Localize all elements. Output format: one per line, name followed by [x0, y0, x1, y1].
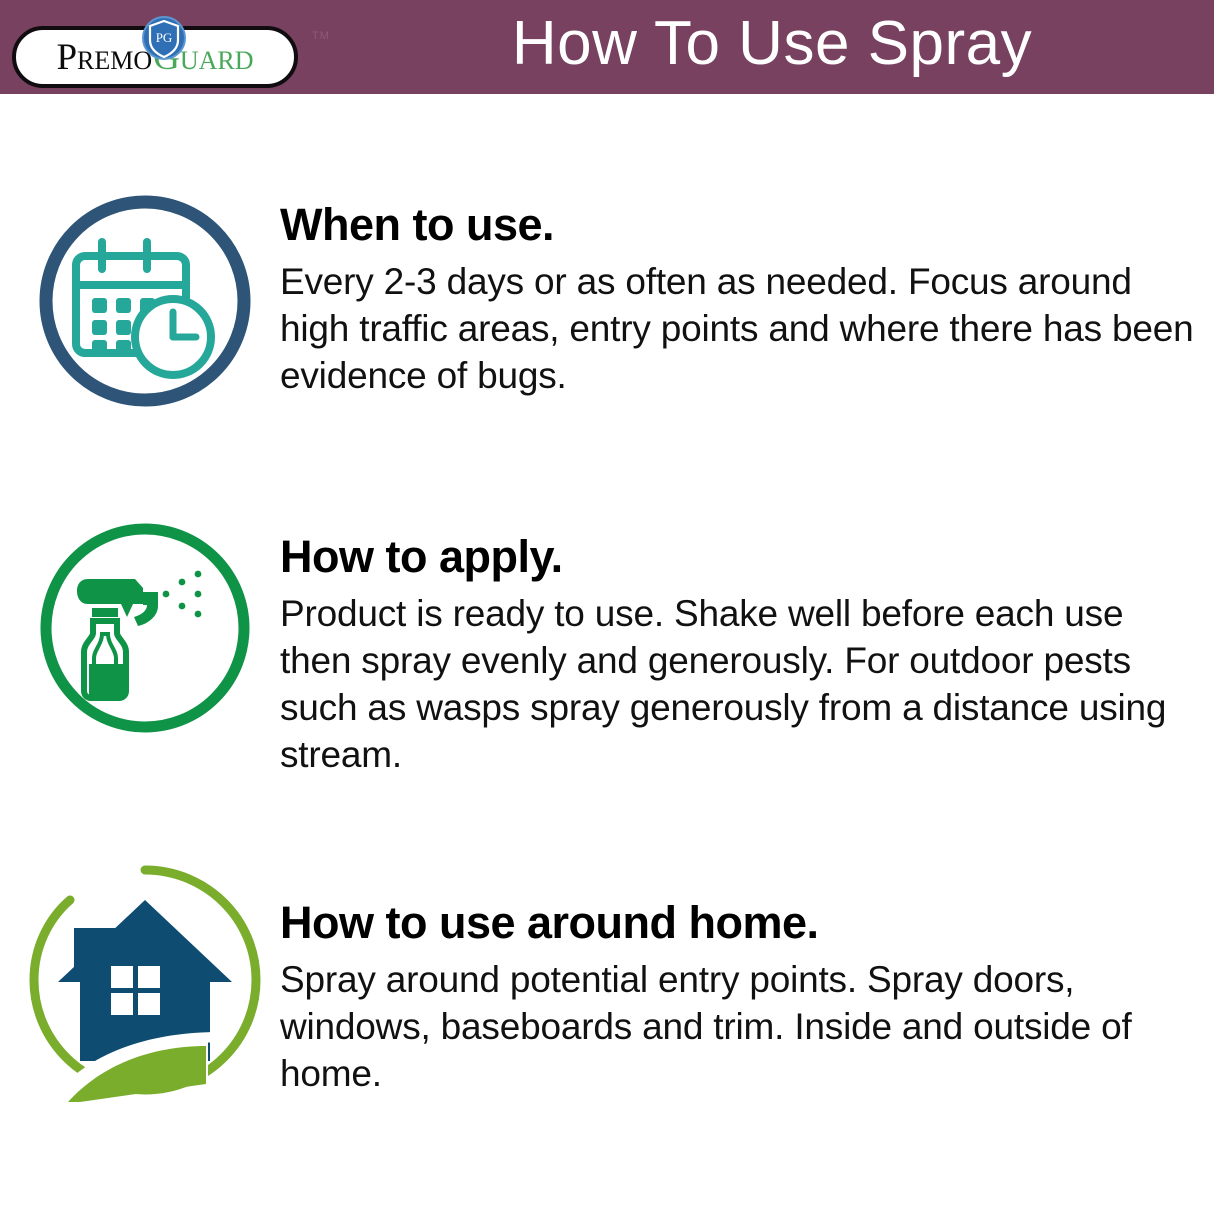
page-header: PremoGuard PG TM How To Use Spray	[0, 0, 1214, 94]
section-title: How to apply.	[280, 530, 1200, 584]
house-leaf-icon	[20, 856, 270, 1106]
shield-icon: PG	[140, 16, 188, 64]
section-text: Product is ready to use. Shake well befo…	[280, 590, 1200, 778]
section-title: When to use.	[280, 198, 1200, 252]
brand-logo: PremoGuard PG TM	[12, 16, 302, 90]
section-text: Spray around potential entry points. Spr…	[280, 956, 1200, 1097]
section-body: When to use. Every 2-3 days or as often …	[280, 198, 1200, 399]
section-title: How to use around home.	[280, 896, 1200, 950]
section-body: How to apply. Product is ready to use. S…	[280, 530, 1200, 778]
section-body: How to use around home. Spray around pot…	[280, 896, 1200, 1097]
section-text: Every 2-3 days or as often as needed. Fo…	[280, 258, 1200, 399]
calendar-clock-icon	[30, 186, 260, 416]
spray-bottle-icon	[30, 516, 260, 746]
page-title: How To Use Spray	[330, 0, 1214, 94]
logo-word-premo: Premo	[56, 36, 152, 79]
shield-initials: PG	[156, 30, 173, 45]
how-to-use-spray-infographic: PremoGuard PG TM How To Use Spray	[0, 0, 1214, 1214]
trademark-mark: TM	[312, 30, 330, 42]
